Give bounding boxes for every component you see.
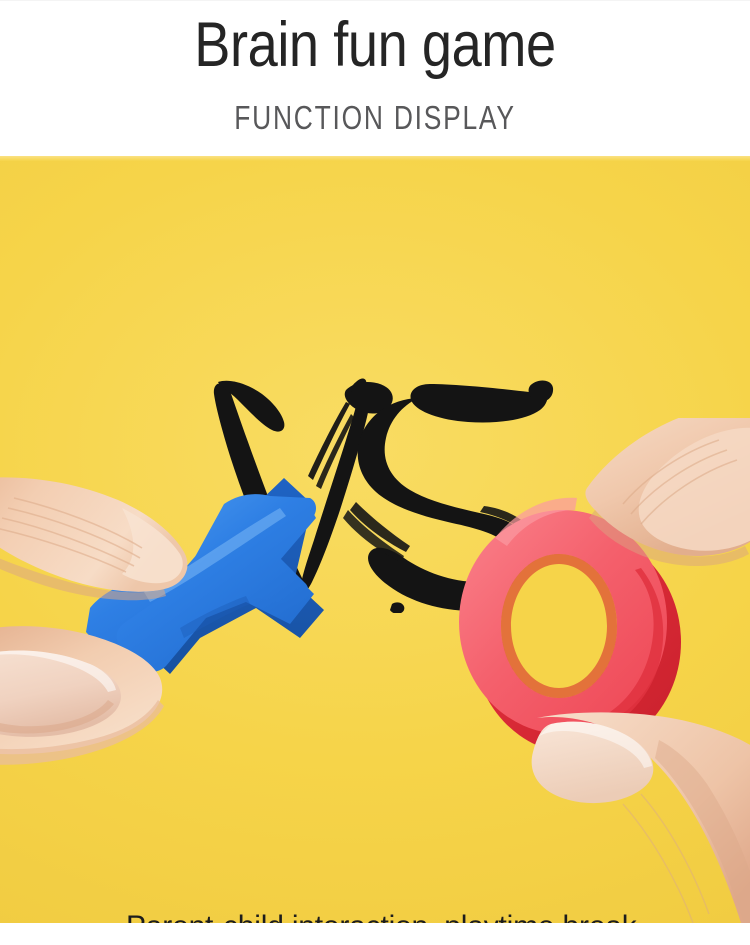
header-band: Brain fun game FUNCTION DISPLAY	[0, 0, 750, 156]
right-hand-holding-ring	[455, 418, 750, 923]
page-title: Brain fun game	[53, 6, 698, 84]
right-thumb-and-wrist	[532, 712, 750, 923]
page-subtitle: FUNCTION DISPLAY	[75, 98, 675, 138]
caption-line-1: Parent-child interaction, playtime break	[126, 909, 746, 923]
left-index-finger	[0, 477, 187, 600]
caption-text: Parent-child interaction, playtime break…	[126, 909, 746, 923]
product-banner: Brain fun game FUNCTION DISPLAY	[0, 0, 750, 945]
product-photo: Parent-child interaction, playtime break…	[0, 156, 750, 923]
left-hand-holding-cross	[0, 442, 324, 862]
footer-band	[0, 923, 750, 945]
photo-top-edge	[0, 156, 750, 161]
